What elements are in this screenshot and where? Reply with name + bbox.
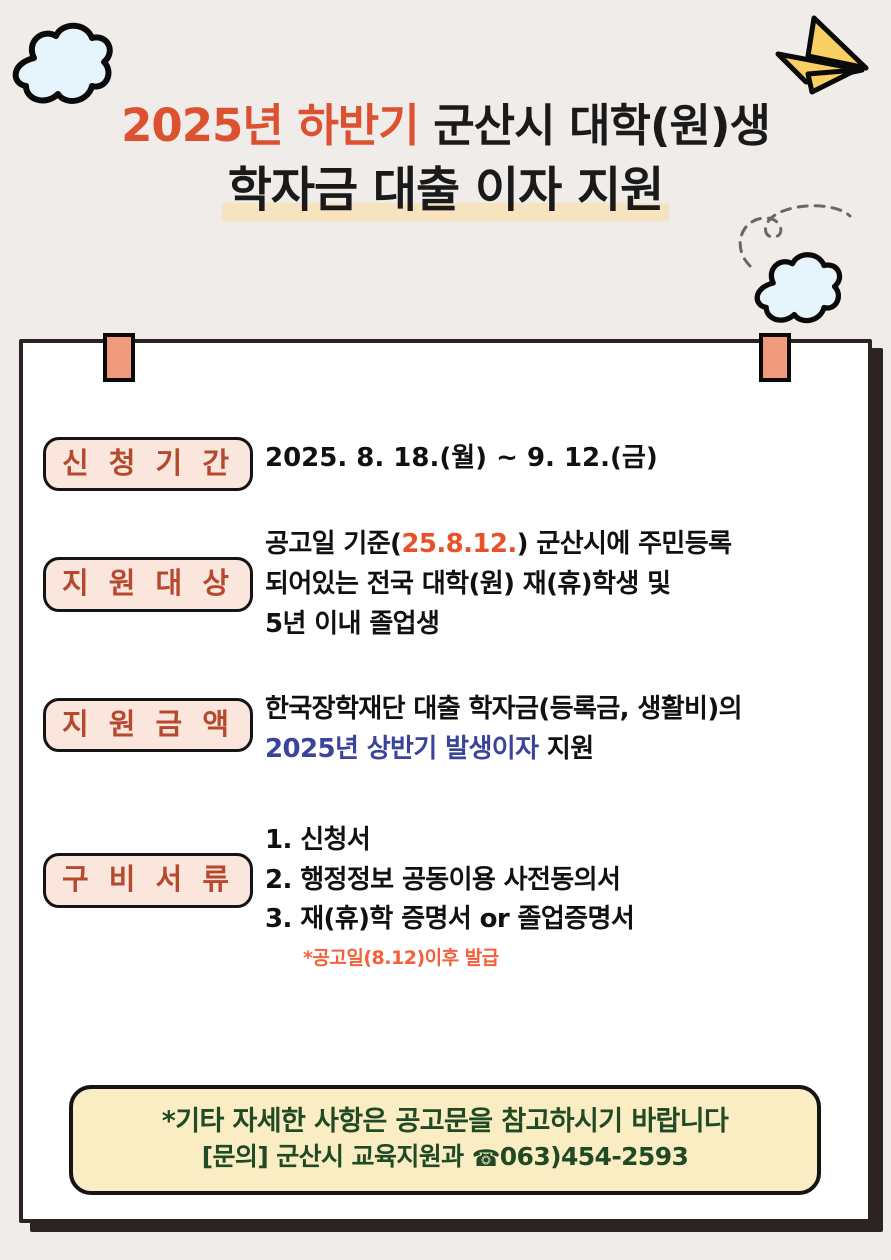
title-line-2-text: 학자금 대출 이자 지원 [228, 162, 664, 218]
eligibility-date-accent: 25.8.12. [401, 529, 516, 559]
footer-contact-line: [문의] 군산시 교육지원과 ☎063)454-2593 [83, 1140, 807, 1174]
poster-root: 2025년 하반기 군산시 대학(원)생 학자금 대출 이자 지원 신 청 기 … [0, 0, 891, 1260]
footer-phone-number: 063)454-2593 [500, 1142, 689, 1171]
title-line-1-rest: 군산시 대학(원)생 [433, 99, 770, 152]
footer-notice-box: *기타 자세한 사항은 공고문을 참고하시기 바랍니다 [문의] 군산시 교육지… [69, 1085, 821, 1195]
badge-support-amount: 지 원 금 액 [43, 698, 253, 752]
footer-contact-label: [문의] 군산시 교육지원과 [202, 1142, 472, 1171]
eligibility-post: ) 군산시에 주민등록 [517, 529, 732, 559]
title-line-2-highlight: 학자금 대출 이자 지원 [228, 159, 664, 222]
eligibility-line-2: 되어있는 전국 대학(원) 재(휴)학생 및 [265, 565, 850, 605]
tape-strip-left [103, 333, 135, 382]
poster-header: 2025년 하반기 군산시 대학(원)생 학자금 대출 이자 지원 [0, 96, 891, 223]
title-highlight-text: 2025년 하반기 [121, 99, 433, 152]
info-rows: 신 청 기 간 2025. 8. 18.(월) ~ 9. 12.(금) 지 원 … [23, 419, 868, 978]
document-item-2: 2. 행정정보 공동이용 사전동의서 [265, 861, 850, 901]
badge-column: 지 원 대 상 [43, 523, 265, 611]
document-note: *공고일(8.12)이후 발급 [303, 943, 850, 970]
tape-strip-right [759, 333, 791, 382]
badge-eligibility: 지 원 대 상 [43, 557, 253, 611]
body-column: 1. 신청서 2. 행정정보 공동이용 사전동의서 3. 재(휴)학 증명서 o… [265, 819, 850, 970]
eligibility-line-3: 5년 이내 졸업생 [265, 605, 850, 645]
amount-line-2-post: 지원 [538, 734, 593, 764]
badge-column: 지 원 금 액 [43, 688, 265, 752]
amount-line-1: 한국장학재단 대출 학자금(등록금, 생활비)의 [265, 690, 850, 730]
title-line-1: 2025년 하반기 군산시 대학(원)생 [0, 96, 891, 155]
body-column: 2025. 8. 18.(월) ~ 9. 12.(금) [265, 437, 850, 479]
amount-navy-accent: 2025년 상반기 발생이자 [265, 734, 538, 764]
document-item-1: 1. 신청서 [265, 821, 850, 861]
badge-column: 구 비 서 류 [43, 819, 265, 907]
eligibility-pre: 공고일 기준( [265, 529, 401, 559]
paper-plane-icon [770, 12, 872, 103]
amount-line-2: 2025년 상반기 발생이자 지원 [265, 730, 850, 770]
section-eligibility: 지 원 대 상 공고일 기준(25.8.12.) 군산시에 주민등록 되어있는 … [43, 523, 850, 644]
badge-required-documents: 구 비 서 류 [43, 853, 253, 907]
body-column: 한국장학재단 대출 학자금(등록금, 생활비)의 2025년 상반기 발생이자 … [265, 688, 850, 769]
phone-icon: ☎ [472, 1144, 500, 1174]
section-required-documents: 구 비 서 류 1. 신청서 2. 행정정보 공동이용 사전동의서 3. 재(휴… [43, 819, 850, 970]
eligibility-line-1: 공고일 기준(25.8.12.) 군산시에 주민등록 [265, 525, 850, 565]
document-item-3: 3. 재(휴)학 증명서 or 졸업증명서 [265, 900, 850, 940]
badge-application-period: 신 청 기 간 [43, 437, 253, 491]
info-card: 신 청 기 간 2025. 8. 18.(월) ~ 9. 12.(금) 지 원 … [19, 339, 872, 1223]
footer-notice-text: *기타 자세한 사항은 공고문을 참고하시기 바랍니다 [83, 1104, 807, 1139]
section-application-period: 신 청 기 간 2025. 8. 18.(월) ~ 9. 12.(금) [43, 437, 850, 491]
badge-column: 신 청 기 간 [43, 437, 265, 491]
period-value: 2025. 8. 18.(월) ~ 9. 12.(금) [265, 439, 850, 479]
title-line-2: 학자금 대출 이자 지원 [0, 159, 891, 222]
section-support-amount: 지 원 금 액 한국장학재단 대출 학자금(등록금, 생활비)의 2025년 상… [43, 688, 850, 769]
body-column: 공고일 기준(25.8.12.) 군산시에 주민등록 되어있는 전국 대학(원)… [265, 523, 850, 644]
